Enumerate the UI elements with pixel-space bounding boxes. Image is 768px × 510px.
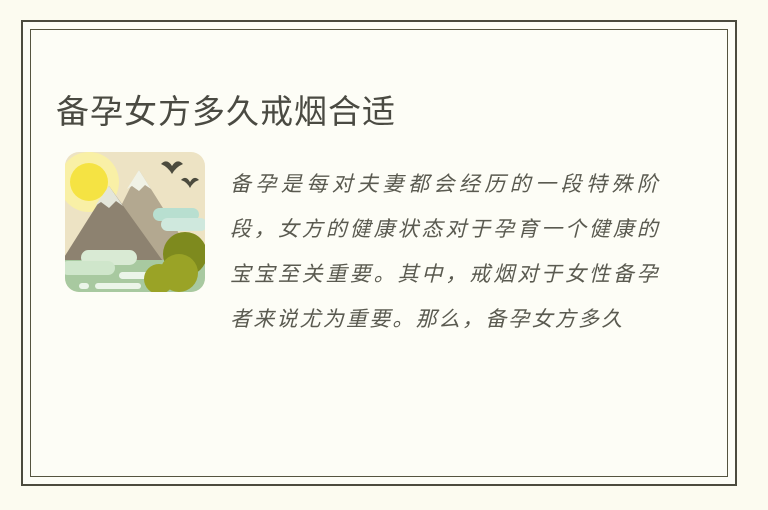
page-root: 备孕女方多久戒烟合适 — [0, 0, 768, 510]
article-card: 备孕女方多久戒烟合适 — [30, 29, 728, 477]
article-body-text: 备孕是每对夫妻都会经历的一段特殊阶段，女方的健康状态对于孕育一个健康的宝宝至关重… — [230, 162, 660, 342]
mountain-landscape-illustration — [57, 142, 213, 304]
page-title: 备孕女方多久戒烟合适 — [56, 90, 396, 134]
